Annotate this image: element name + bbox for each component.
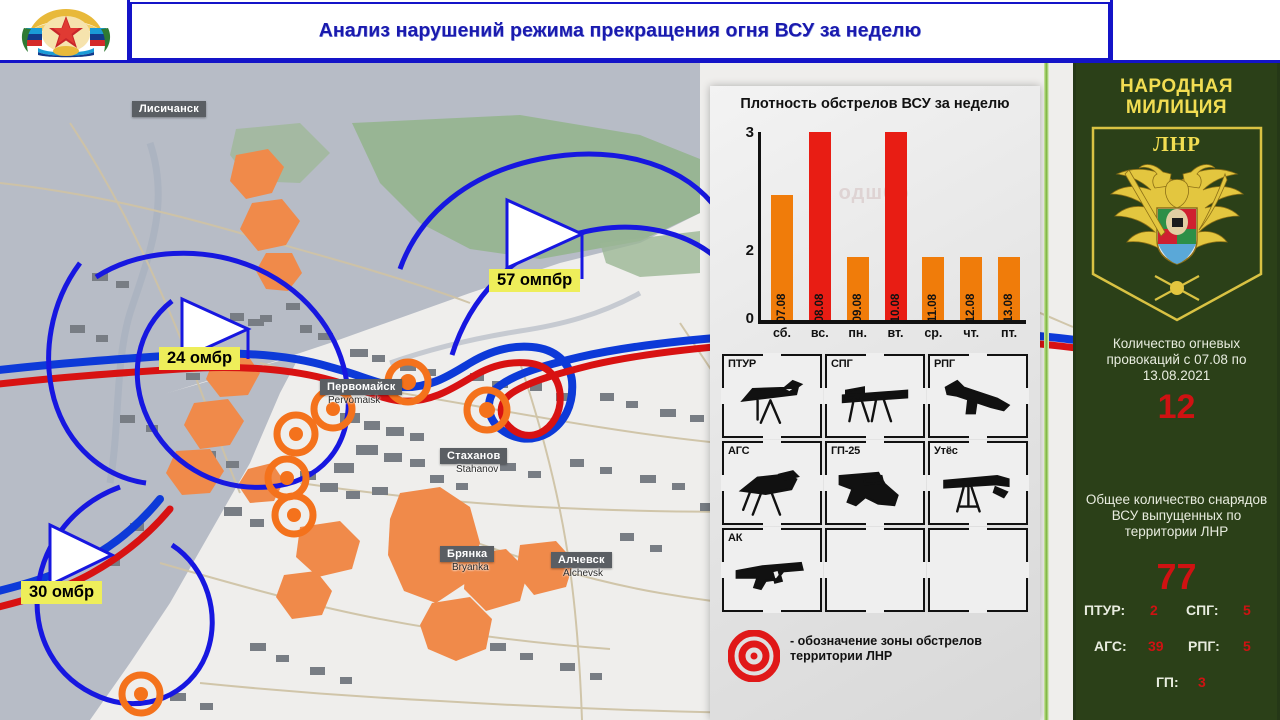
x-tick-3: вт. xyxy=(876,326,916,340)
provocations-value: 12 xyxy=(1076,388,1277,427)
breakdown-ptur-value: 2 xyxy=(1150,602,1158,618)
shelling-zone-target-icon xyxy=(728,630,780,682)
provocations-caption: Количество огневых провокаций с 07.08 по… xyxy=(1076,336,1277,384)
weapon-name: АГС xyxy=(728,445,749,457)
weapon-cell-heavy-machine-gun-icon: Утёс xyxy=(928,441,1028,525)
header-title-box: Анализ нарушений режима прекращения огня… xyxy=(130,2,1110,60)
city-label-lisichansk: Лисичанск xyxy=(132,101,206,117)
weapon-name: ГП-25 xyxy=(831,445,860,457)
city-label-alchevsk: Алчевск xyxy=(551,552,612,568)
slide-root: Анализ нарушений режима прекращения огня… xyxy=(0,0,1280,720)
bar-12.08: 12.08 xyxy=(960,257,982,320)
weapon-cell-recoilless-gun-icon: СПГ xyxy=(825,354,925,438)
city-label-bryanka: Брянка xyxy=(440,546,494,562)
emblem-lnr-label: ЛНР xyxy=(1087,132,1267,157)
bar-label-10.08: 10.08 xyxy=(890,294,902,323)
breakdown-spg-value: 5 xyxy=(1243,602,1251,618)
sidebar-title-line1: НАРОДНАЯ xyxy=(1076,76,1277,97)
bar-08.08: 08.08 xyxy=(809,132,831,320)
sidebar-title: НАРОДНАЯ МИЛИЦИЯ xyxy=(1076,76,1277,118)
cell-notch xyxy=(927,562,933,578)
cell-notch xyxy=(969,607,987,613)
y-tick-0: 0 xyxy=(732,310,754,327)
chart-x-tick-labels: сб.вс.пн.вт.ср.чт.пт. xyxy=(763,326,1028,346)
weapon-name: РПГ xyxy=(934,358,955,370)
weapon-name: Утёс xyxy=(934,445,958,457)
breakdown-rpg-value: 5 xyxy=(1243,638,1251,654)
weapon-type-grid: ПТУРСПГРПГАГСГП-25УтёсАК xyxy=(722,354,1028,612)
panel-sidebar-divider xyxy=(1044,63,1049,720)
sidebar-title-line2: МИЛИЦИЯ xyxy=(1076,97,1277,118)
map-legend: - обозначение зоны обстрелов территории … xyxy=(724,626,1029,686)
city-sublabel-alchevsk: Alchevsk xyxy=(563,568,603,579)
weapon-cell-rpg-icon: РПГ xyxy=(928,354,1028,438)
unit-label-24-ombr: 24 омбр xyxy=(159,347,240,370)
atgm-icon xyxy=(724,370,820,434)
underbarrel-grenade-launcher-icon xyxy=(827,457,923,521)
city-sublabel-stakhanov: Stahanov xyxy=(456,464,498,475)
breakdown-ags-value: 39 xyxy=(1148,638,1164,654)
page-title: Анализ нарушений режима прекращения огня… xyxy=(132,20,1108,43)
heavy-machine-gun-icon xyxy=(930,457,1026,521)
weapon-cell-empty xyxy=(825,528,925,612)
breakdown-rpg-label: РПГ: xyxy=(1188,638,1220,654)
x-tick-1: вс. xyxy=(800,326,840,340)
cell-notch xyxy=(763,440,781,446)
bar-label-08.08: 08.08 xyxy=(814,294,826,323)
bar-10.08: 10.08 xyxy=(885,132,907,320)
weapon-name: АК xyxy=(728,532,742,544)
bar-label-11.08: 11.08 xyxy=(927,294,939,322)
weapon-cell-underbarrel-grenade-launcher-icon: ГП-25 xyxy=(825,441,925,525)
cell-notch xyxy=(969,353,987,359)
weapon-cell-empty xyxy=(928,528,1028,612)
city-sublabel-pervomaisk: Pervomaisk xyxy=(328,395,380,406)
cell-notch xyxy=(866,353,884,359)
weapon-cell-auto-grenade-launcher-icon: АГС xyxy=(722,441,822,525)
x-tick-0: сб. xyxy=(762,326,802,340)
header-bar: Анализ нарушений режима прекращения огня… xyxy=(0,0,1280,62)
shells-value: 77 xyxy=(1076,556,1277,598)
bar-11.08: 11.08 xyxy=(922,257,944,320)
auto-grenade-launcher-icon xyxy=(724,457,820,521)
weapon-cell-assault-rifle-icon: АК xyxy=(722,528,822,612)
bar-09.08: 09.08 xyxy=(847,257,869,320)
cell-notch xyxy=(866,440,884,446)
x-tick-6: пт. xyxy=(989,326,1029,340)
breakdown-gp-value: 3 xyxy=(1198,674,1206,690)
breakdown-ags-label: АГС: xyxy=(1094,638,1127,654)
chart-y-axis xyxy=(758,132,761,322)
cell-notch xyxy=(824,562,830,578)
x-tick-2: пн. xyxy=(838,326,878,340)
cell-notch xyxy=(969,527,987,533)
cell-notch xyxy=(866,607,884,613)
x-tick-5: чт. xyxy=(951,326,991,340)
weapon-name: СПГ xyxy=(831,358,853,370)
cell-notch xyxy=(1023,562,1029,578)
rpg-icon xyxy=(930,370,1026,434)
recoilless-gun-icon xyxy=(827,370,923,434)
city-label-pervomaisk: Первомайск xyxy=(320,379,402,395)
chart-title: Плотность обстрелов ВСУ за неделю xyxy=(710,96,1040,112)
cell-notch xyxy=(763,353,781,359)
y-tick-2: 2 xyxy=(732,242,754,259)
shelling-density-chart: 7 одшбр 3 2 0 07.0808.0809.0810.0811.081… xyxy=(730,124,1030,346)
analysis-panel: Плотность обстрелов ВСУ за неделю 7 одшб… xyxy=(710,86,1040,720)
weapon-cell-atgm-icon: ПТУР xyxy=(722,354,822,438)
header-left-emblem-box xyxy=(0,0,130,62)
cell-notch xyxy=(763,527,781,533)
lnr-double-headed-eagle-emblem: ЛНР xyxy=(1087,124,1267,324)
city-sublabel-bryanka: Bryanka xyxy=(452,562,489,573)
legend-text: - обозначение зоны обстрелов территории … xyxy=(790,634,1030,664)
cell-notch xyxy=(969,440,987,446)
assault-rifle-icon xyxy=(724,544,820,608)
breakdown-gp-label: ГП: xyxy=(1156,674,1179,690)
y-tick-3: 3 xyxy=(732,124,754,141)
x-tick-4: ср. xyxy=(913,326,953,340)
unit-label-57-ompbr: 57 омпбр xyxy=(489,269,580,292)
cell-notch xyxy=(866,527,884,533)
unit-label-30-ombr: 30 омбр xyxy=(21,581,102,604)
bar-label-07.08: 07.08 xyxy=(776,294,788,323)
city-label-stakhanov: Стаханов xyxy=(440,448,507,464)
shells-caption: Общее количество снарядов ВСУ выпущенных… xyxy=(1076,492,1277,540)
header-right-flag-box: 2 xyxy=(1110,0,1280,62)
lnr-coat-of-arms xyxy=(18,6,114,58)
bar-07.08: 07.08 xyxy=(771,195,793,320)
weapon-name: ПТУР xyxy=(728,358,756,370)
bar-label-12.08: 12.08 xyxy=(965,294,977,323)
bar-label-09.08: 09.08 xyxy=(852,294,864,323)
cell-notch xyxy=(920,562,926,578)
chart-bars: 07.0808.0809.0810.0811.0812.0813.08 xyxy=(763,132,1028,320)
bar-label-13.08: 13.08 xyxy=(1003,294,1015,323)
breakdown-spg-label: СПГ: xyxy=(1186,602,1219,618)
bar-13.08: 13.08 xyxy=(998,257,1020,320)
breakdown-ptur-label: ПТУР: xyxy=(1084,602,1125,618)
